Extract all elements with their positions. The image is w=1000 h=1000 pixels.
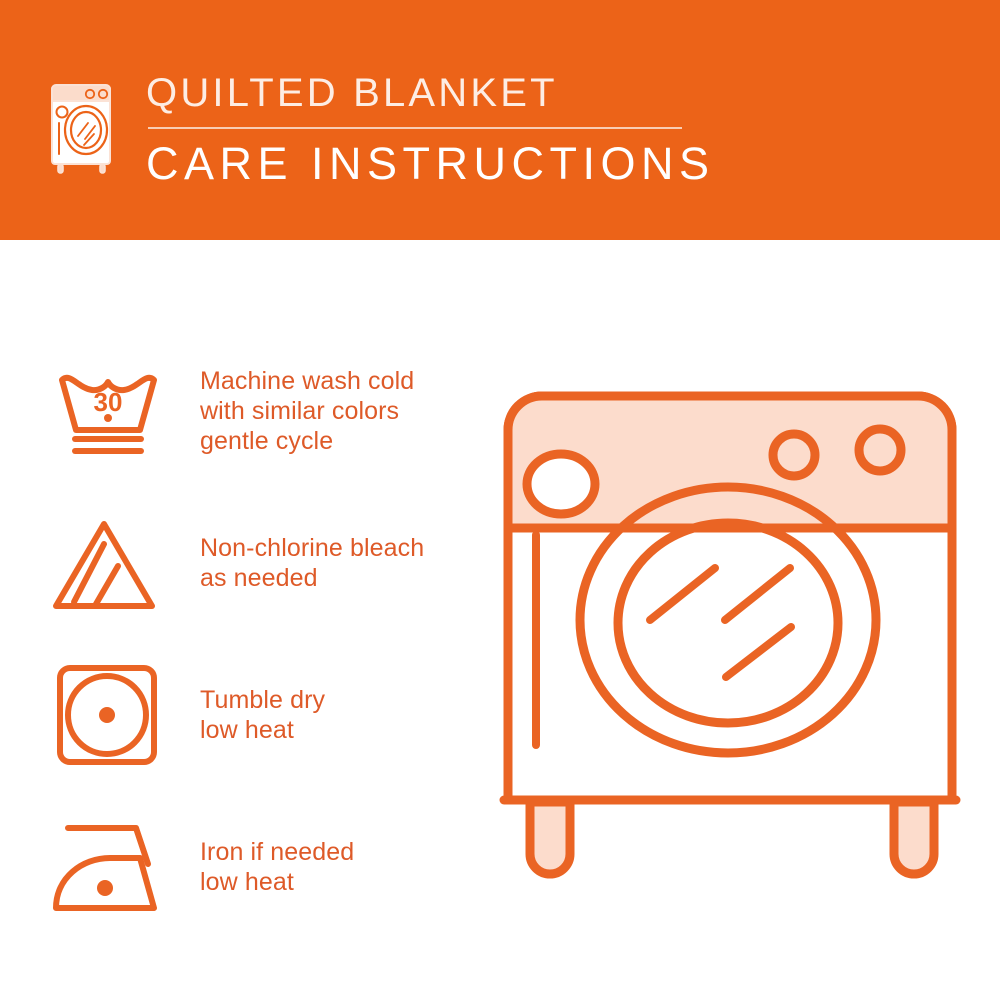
care-line: Machine wash cold <box>200 366 500 396</box>
care-line: low heat <box>200 867 500 897</box>
leg-left <box>530 802 570 874</box>
front-load-washing-machine-illustration <box>490 330 970 950</box>
washing-machine-logo-icon <box>45 68 117 178</box>
header-banner: QUILTED BLANKET CARE INSTRUCTIONS <box>0 0 1000 240</box>
detergent-port-circle <box>527 454 595 514</box>
bleach-triangle-non-chlorine-icon <box>48 508 168 618</box>
care-item-machine-wash: 30 Machine wash cold with similar colors… <box>0 336 500 486</box>
iron-low-heat-icon <box>48 812 168 922</box>
leg-right <box>894 802 934 874</box>
care-item-iron: Iron if needed low heat <box>0 792 500 942</box>
care-line: Iron if needed <box>200 837 500 867</box>
page-title-secondary: CARE INSTRUCTIONS <box>146 139 846 189</box>
care-line: Tumble dry <box>200 685 500 715</box>
title-divider <box>148 127 682 129</box>
care-item-label: Tumble dry low heat <box>200 685 500 745</box>
care-line: low heat <box>200 715 500 745</box>
care-line: as needed <box>200 563 500 593</box>
care-line: with similar colors <box>200 396 500 426</box>
care-line: gentle cycle <box>200 426 500 456</box>
wash-temperature-value: 30 <box>94 387 123 417</box>
care-item-label: Iron if needed low heat <box>200 837 500 897</box>
wash-basin-30-gentle-icon: 30 <box>48 356 168 466</box>
page-title-primary: QUILTED BLANKET <box>146 70 846 116</box>
care-instruction-list: 30 Machine wash cold with similar colors… <box>0 240 500 1000</box>
care-item-bleach: Non-chlorine bleach as needed <box>0 488 500 638</box>
header-title-group: QUILTED BLANKET CARE INSTRUCTIONS <box>146 70 846 189</box>
tumble-dry-low-heat-icon <box>48 660 168 770</box>
care-item-tumble-dry: Tumble dry low heat <box>0 640 500 790</box>
care-instructions-page: QUILTED BLANKET CARE INSTRUCTIONS 30 <box>0 0 1000 1000</box>
care-line: Non-chlorine bleach <box>200 533 500 563</box>
care-item-label: Machine wash cold with similar colors ge… <box>200 366 500 456</box>
care-item-label: Non-chlorine bleach as needed <box>200 533 500 593</box>
